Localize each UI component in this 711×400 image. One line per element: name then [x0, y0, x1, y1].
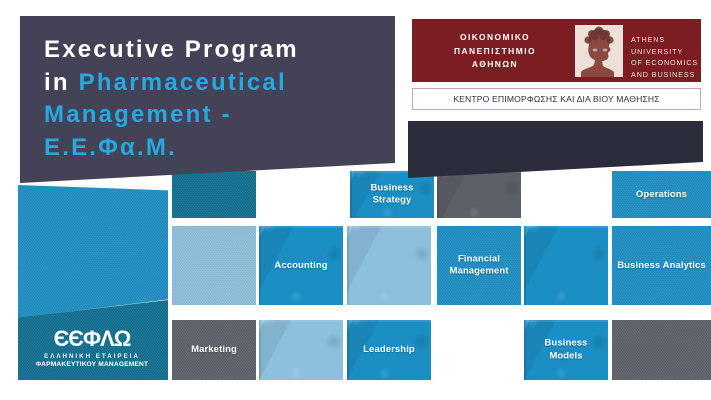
- tile-label: Business Models: [524, 338, 608, 363]
- tile-r2c3: [347, 226, 431, 305]
- title-line-3: Management -: [44, 99, 385, 132]
- eefam-monogram-icon: ЄЄΦΛΩ: [38, 326, 146, 352]
- tile-r2c5: [524, 226, 608, 305]
- aueb-english-line2: OF ECONOMICS: [631, 57, 701, 69]
- title-line-2-accent: Pharmaceutical: [79, 69, 287, 96]
- tile-label: Leadership: [347, 344, 431, 357]
- tile-r2c1: [172, 226, 256, 305]
- page-title: Executive Program in Pharmaceutical Mana…: [44, 34, 385, 164]
- aueb-greek-name: ΟΙΚΟΝΟΜΙΚΟ ΠΑΝΕΠΙΣΤΗΜΙΟ ΑΘΗΝΩΝ: [420, 31, 570, 72]
- eefam-line1: ΕΛΛΗΝΙΚΗ ΕΤΑΙΡΕΙΑ: [28, 353, 156, 360]
- aueb-logo: ΟΙΚΟΝΟΜΙΚΟ ΠΑΝΕΠΙΣΤΗΜΙΟ ΑΘΗΝΩΝ: [412, 19, 701, 82]
- tile-accounting[interactable]: Accounting: [259, 226, 343, 305]
- aueb-greek-line3: ΑΘΗΝΩΝ: [420, 58, 570, 72]
- tile-operations[interactable]: Operations: [612, 171, 711, 218]
- tile-marketing[interactable]: Marketing: [172, 320, 256, 380]
- title-line-2-plain: in: [44, 69, 79, 96]
- title-line-4: Ε.Ε.Φα.Μ.: [44, 132, 385, 165]
- tile-label: Financial Management: [437, 253, 521, 278]
- aueb-subtitle-text: ΚΕΝΤΡΟ ΕΠΙΜΟΡΦΩΣΗΣ ΚΑΙ ΔΙΑ ΒΙΟΥ ΜΑΘΗΣΗΣ: [453, 94, 659, 104]
- aueb-english-name: ATHENS UNIVERSITY OF ECONOMICS AND BUSIN…: [631, 34, 701, 80]
- tile-leadership[interactable]: Leadership: [347, 320, 431, 380]
- title-line-2: in Pharmaceutical: [44, 67, 385, 100]
- tile-business-analytics[interactable]: Business Analytics: [612, 226, 711, 305]
- tile-label: Marketing: [172, 344, 256, 357]
- eefam-line2: ΦΑΡΜΑΚΕΥΤΙΚΟΥ MANAGEMENT: [28, 361, 156, 368]
- title-block: Executive Program in Pharmaceutical Mana…: [20, 16, 395, 183]
- tile-r1c4: [437, 171, 521, 218]
- aueb-greek-line1: ΟΙΚΟΝΟΜΙΚΟ: [420, 31, 570, 45]
- classical-head-icon: [575, 25, 623, 77]
- title-line-1: Executive Program: [44, 34, 385, 67]
- aueb-english-line3: AND BUSINESS: [631, 69, 701, 81]
- aueb-greek-line2: ΠΑΝΕΠΙΣΤΗΜΙΟ: [420, 45, 570, 59]
- tile-financial-management[interactable]: Financial Management: [437, 226, 521, 305]
- tile-label: Accounting: [259, 259, 343, 272]
- aueb-subtitle-bar: ΚΕΝΤΡΟ ΕΠΙΜΟΡΦΩΣΗΣ ΚΑΙ ΔΙΑ ΒΙΟΥ ΜΑΘΗΣΗΣ: [412, 88, 701, 110]
- tile-r1c1: [172, 171, 256, 218]
- tile-business-models[interactable]: Business Models: [524, 320, 608, 380]
- poster-canvas: Business StrategyOperationsAccountingFin…: [0, 0, 711, 400]
- tile-business-strategy[interactable]: Business Strategy: [350, 171, 434, 218]
- tile-label: Operations: [612, 188, 711, 201]
- tile-r3c6: [612, 320, 711, 380]
- tile-label: Business Strategy: [350, 182, 434, 207]
- eefam-logo: ЄЄΦΛΩ ΕΛΛΗΝΙΚΗ ΕΤΑΙΡΕΙΑ ΦΑΡΜΑΚΕΥΤΙΚΟΥ MA…: [28, 326, 156, 376]
- tile-label: Business Analytics: [612, 259, 711, 272]
- tile-r3c2: [259, 320, 343, 380]
- aueb-english-line1: ATHENS UNIVERSITY: [631, 34, 701, 57]
